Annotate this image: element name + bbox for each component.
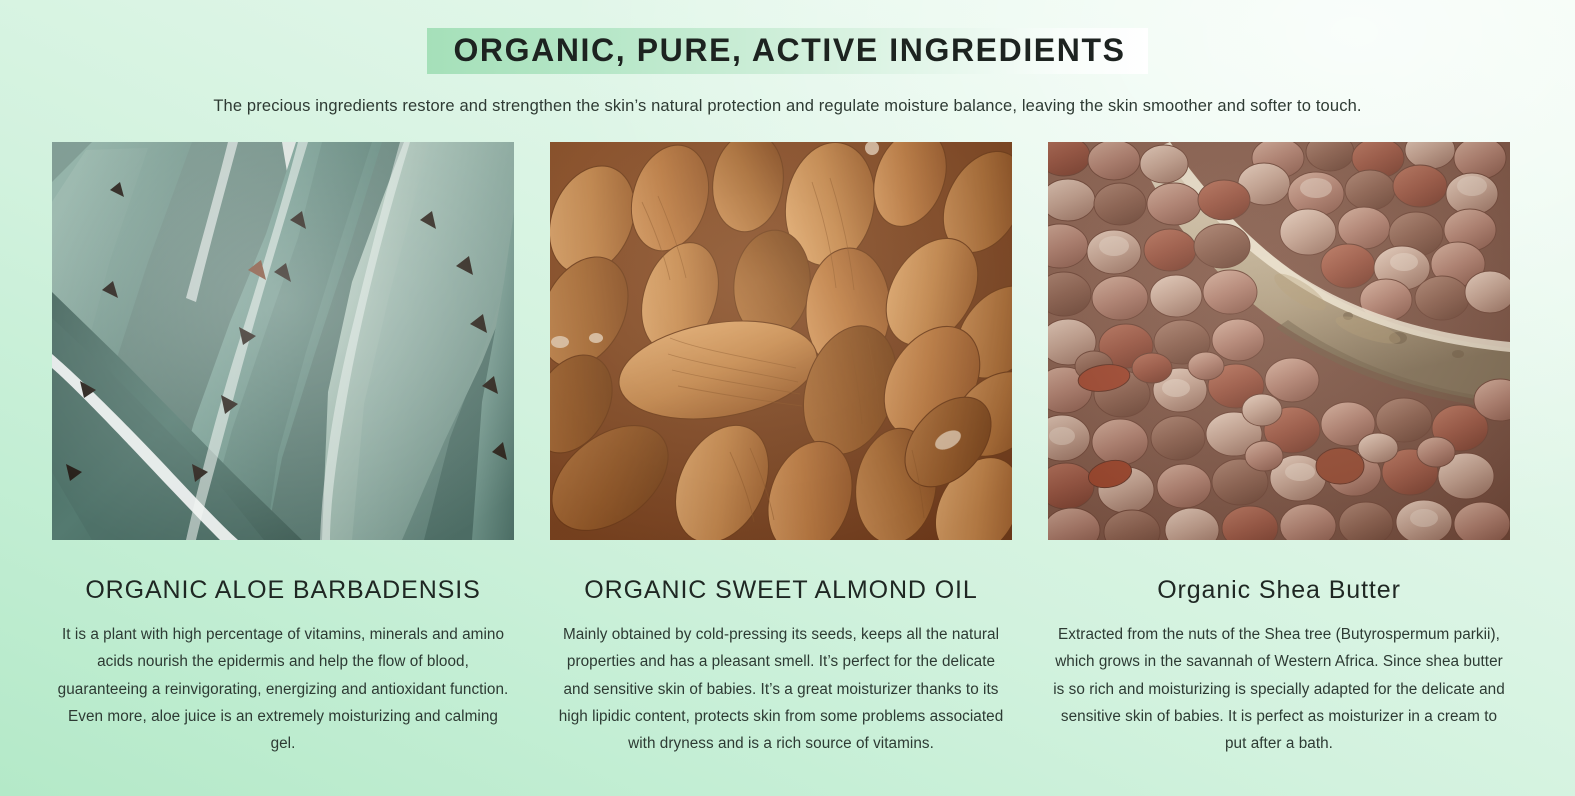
ingredient-card: ORGANIC SWEET ALMOND OIL Mainly obtained… xyxy=(550,142,1012,758)
ingredient-title: ORGANIC SWEET ALMOND OIL xyxy=(584,576,977,605)
title-highlight-band: ORGANIC, PURE, ACTIVE INGREDIENTS xyxy=(427,28,1147,74)
shea-butter-photo xyxy=(1048,142,1510,540)
section-header: ORGANIC, PURE, ACTIVE INGREDIENTS The pr… xyxy=(0,0,1575,117)
sweet-almond-photo xyxy=(550,142,1012,540)
ingredient-description: Extracted from the nuts of the Shea tree… xyxy=(1053,621,1505,758)
ingredient-card: ORGANIC ALOE BARBADENSIS It is a plant w… xyxy=(52,142,514,758)
ingredient-card: Organic Shea Butter Extracted from the n… xyxy=(1048,142,1510,758)
section-subtitle: The precious ingredients restore and str… xyxy=(0,96,1575,117)
ingredient-description: Mainly obtained by cold-pressing its see… xyxy=(555,621,1007,758)
page-title: ORGANIC, PURE, ACTIVE INGREDIENTS xyxy=(453,34,1125,66)
ingredient-title: Organic Shea Butter xyxy=(1157,576,1401,605)
ingredient-title: ORGANIC ALOE BARBADENSIS xyxy=(85,576,480,605)
ingredient-description: It is a plant with high percentage of vi… xyxy=(57,621,509,758)
ingredients-section: ORGANIC, PURE, ACTIVE INGREDIENTS The pr… xyxy=(0,0,1575,796)
aloe-barbadensis-photo xyxy=(52,142,514,540)
ingredient-card-list: ORGANIC ALOE BARBADENSIS It is a plant w… xyxy=(52,142,1509,758)
